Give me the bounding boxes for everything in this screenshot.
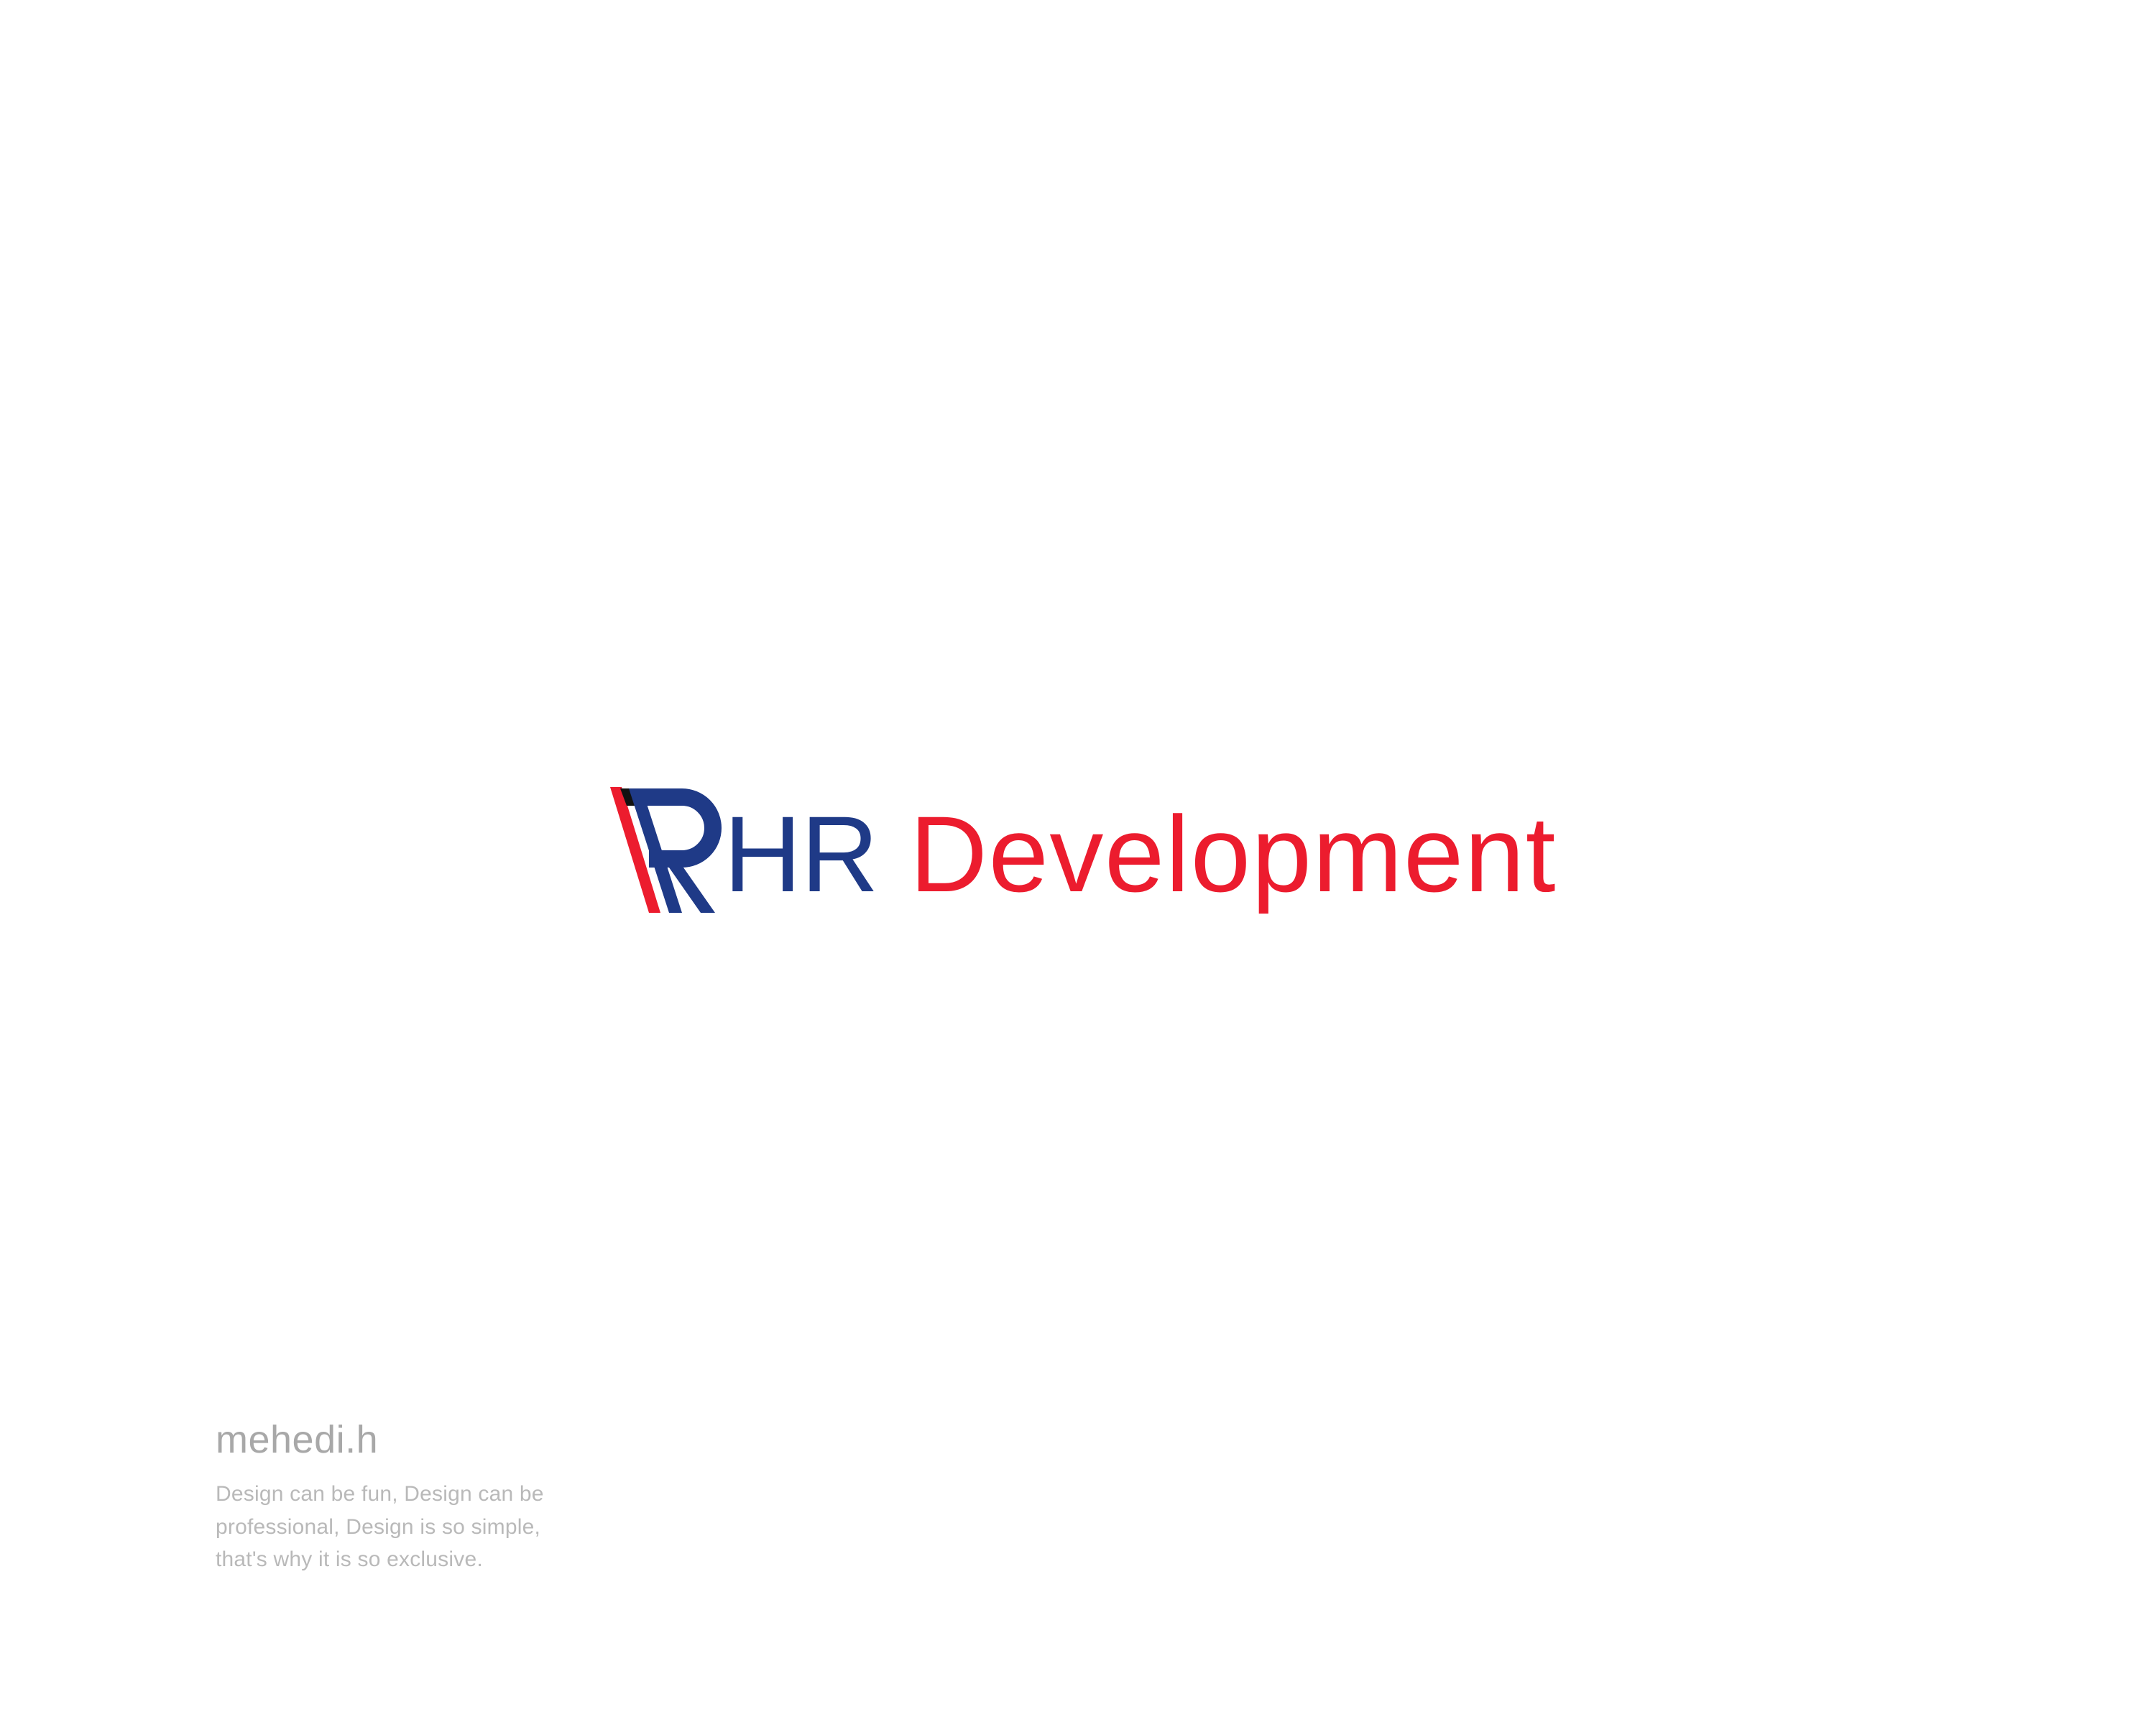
rhr-monogram-icon	[607, 787, 728, 913]
presentation-canvas: HR Development mehedi.h Design can be fu…	[0, 0, 2156, 1725]
designer-name: mehedi.h	[216, 1417, 661, 1462]
logo-lockup: HR Development	[607, 787, 1557, 913]
wordmark-development: Development	[910, 800, 1557, 908]
wordmark-hr: HR	[724, 800, 878, 908]
designer-tagline: Design can be fun, Design can be profess…	[216, 1478, 661, 1576]
tagline-line: professional, Design is so simple,	[216, 1511, 661, 1544]
tagline-line: Design can be fun, Design can be	[216, 1478, 661, 1511]
tagline-line: that's why it is so exclusive.	[216, 1543, 661, 1576]
designer-credit-block: mehedi.h Design can be fun, Design can b…	[216, 1417, 661, 1576]
